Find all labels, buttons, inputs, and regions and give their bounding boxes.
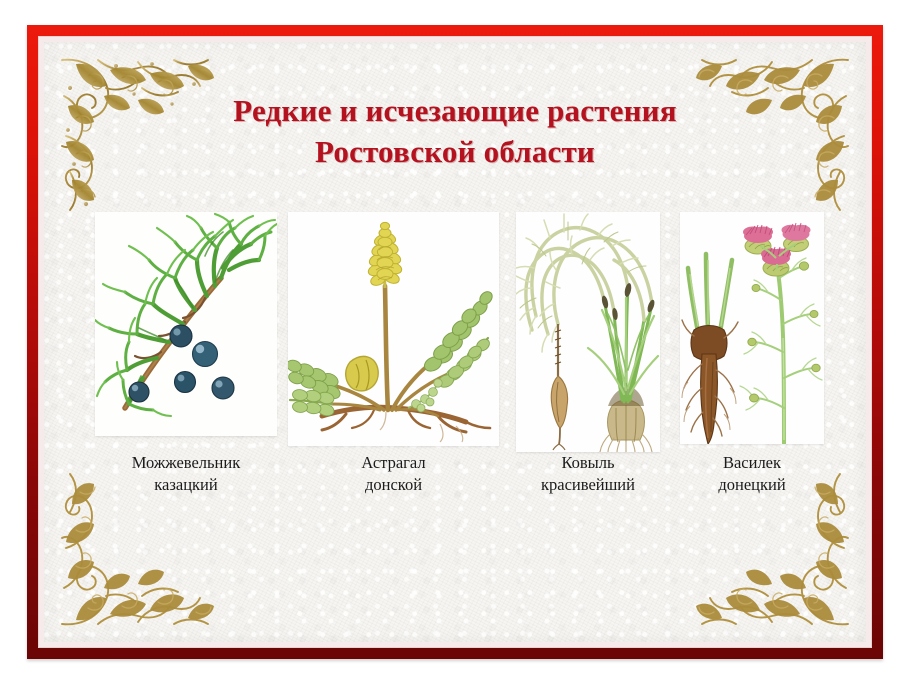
plant-image-juniper — [95, 212, 277, 436]
plant-caption-cornflower: Василек донецкий — [670, 452, 834, 496]
plant-image-cornflower — [680, 212, 824, 444]
plant-image-feather-grass — [516, 212, 660, 452]
title-line-2: Ростовской области — [44, 131, 866, 172]
caption-line-1: Можжевельник — [132, 453, 240, 472]
caption-line-1: Василек — [723, 453, 781, 472]
plant-card-feather-grass[interactable]: Ковыль красивейший — [516, 212, 660, 452]
slide-title: Редкие и исчезающие растения Ростовской … — [44, 90, 866, 172]
plant-gallery: Можжевельник казацкий — [92, 212, 824, 458]
plant-card-juniper[interactable]: Можжевельник казацкий — [95, 212, 277, 436]
plant-card-cornflower[interactable]: Василек донецкий — [680, 212, 824, 444]
plant-image-astragalus — [288, 212, 499, 446]
caption-line-1: Астрагал — [361, 453, 425, 472]
caption-line-2: казацкий — [92, 474, 280, 496]
caption-line-2: донецкий — [670, 474, 834, 496]
caption-line-1: Ковыль — [561, 453, 614, 472]
paper-background: Редкие и исчезающие растения Ростовской … — [44, 42, 866, 642]
plant-card-astragalus[interactable]: Астрагал донской — [288, 212, 499, 446]
caption-line-2: донской — [288, 474, 499, 496]
slide-canvas: Редкие и исчезающие растения Ростовской … — [0, 0, 910, 683]
plant-caption-astragalus: Астрагал донской — [288, 452, 499, 496]
caption-line-2: красивейший — [500, 474, 676, 496]
title-line-1: Редкие и исчезающие растения — [44, 90, 866, 131]
plant-caption-feather-grass: Ковыль красивейший — [500, 452, 676, 496]
plant-caption-juniper: Можжевельник казацкий — [92, 452, 280, 496]
